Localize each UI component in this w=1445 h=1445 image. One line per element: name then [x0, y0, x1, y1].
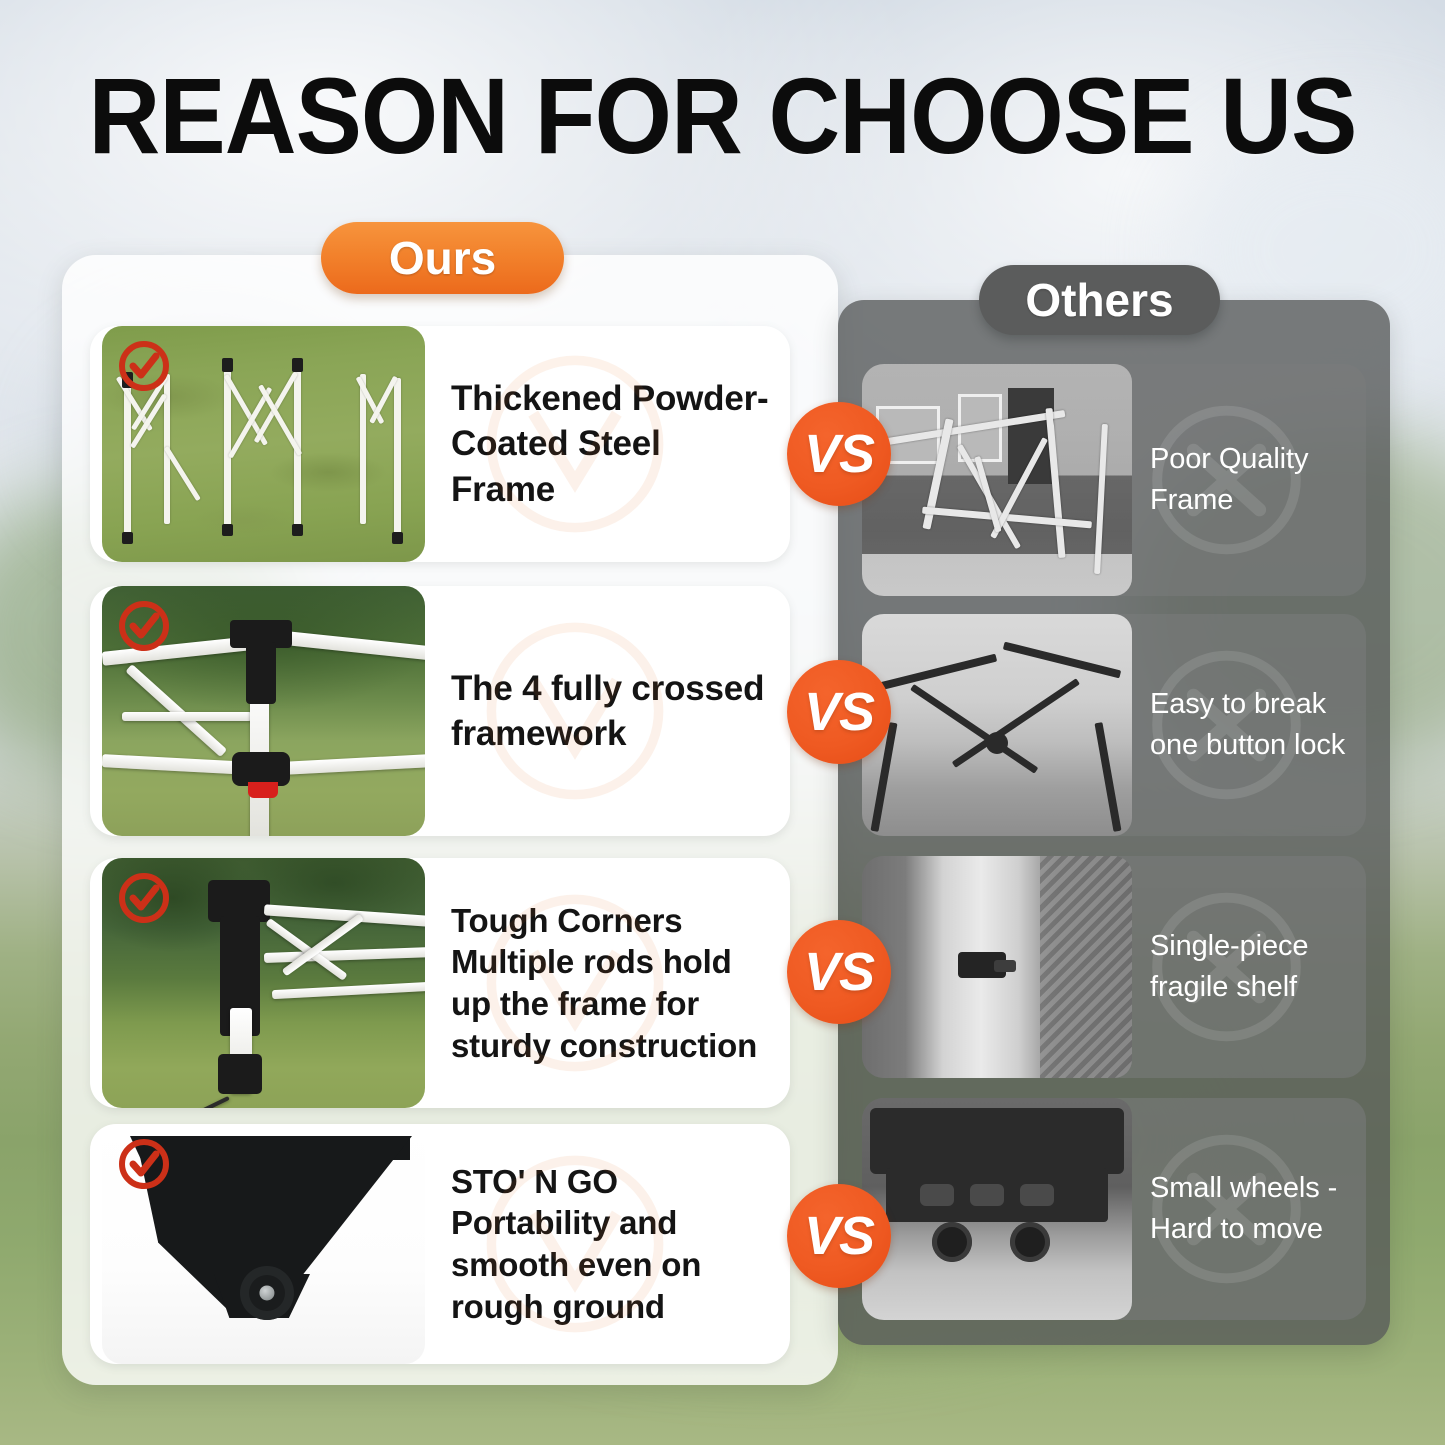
check-circle-icon	[116, 338, 172, 394]
ours-row: Tough Corners Multiple rods hold up the …	[90, 858, 790, 1108]
ours-photo-joint	[102, 586, 425, 836]
others-row-text: Single-piece fragile shelf	[1132, 926, 1366, 1008]
vs-badge: VS	[787, 920, 891, 1024]
page-title: REASON FOR CHOOSE US	[58, 62, 1387, 170]
vs-badge: VS	[787, 402, 891, 506]
others-column-badge: Others	[979, 265, 1220, 335]
check-circle-icon	[116, 1136, 172, 1192]
others-photo-small-wheels	[862, 1098, 1132, 1320]
check-circle-icon	[116, 598, 172, 654]
ours-photo-corner	[102, 858, 425, 1108]
others-row-text: Easy to break one button lock	[1132, 684, 1366, 766]
ours-row: Thickened Powder-Coated Steel Frame	[90, 326, 790, 562]
others-row-text: Poor Quality Frame	[1132, 439, 1366, 521]
others-photo-fragile-shelf	[862, 856, 1132, 1078]
ours-row-text: STO' N GO Portability and smooth even on…	[425, 1161, 790, 1327]
check-circle-icon	[116, 870, 172, 926]
ours-photo-bag	[102, 1124, 425, 1364]
photo-canopy-background	[862, 614, 1132, 836]
vs-badge: VS	[787, 660, 891, 764]
ours-row-text: Tough Corners Multiple rods hold up the …	[425, 900, 790, 1066]
ours-row: STO' N GO Portability and smooth even on…	[90, 1124, 790, 1364]
ours-column-badge: Ours	[321, 222, 564, 294]
ours-row-text: The 4 fully crossed framework	[425, 666, 790, 757]
ours-row: The 4 fully crossed framework	[90, 586, 790, 836]
others-photo-broken-frame	[862, 364, 1132, 596]
others-photo-canopy-brace	[862, 614, 1132, 836]
others-row: Easy to break one button lock	[862, 614, 1366, 836]
ours-photo-frame	[102, 326, 425, 562]
vs-badge: VS	[787, 1184, 891, 1288]
others-row: Single-piece fragile shelf	[862, 856, 1366, 1078]
others-row: Small wheels - Hard to move	[862, 1098, 1366, 1320]
ours-row-text: Thickened Powder-Coated Steel Frame	[425, 376, 790, 513]
others-row-text: Small wheels - Hard to move	[1132, 1168, 1366, 1250]
others-row: Poor Quality Frame	[862, 364, 1366, 596]
